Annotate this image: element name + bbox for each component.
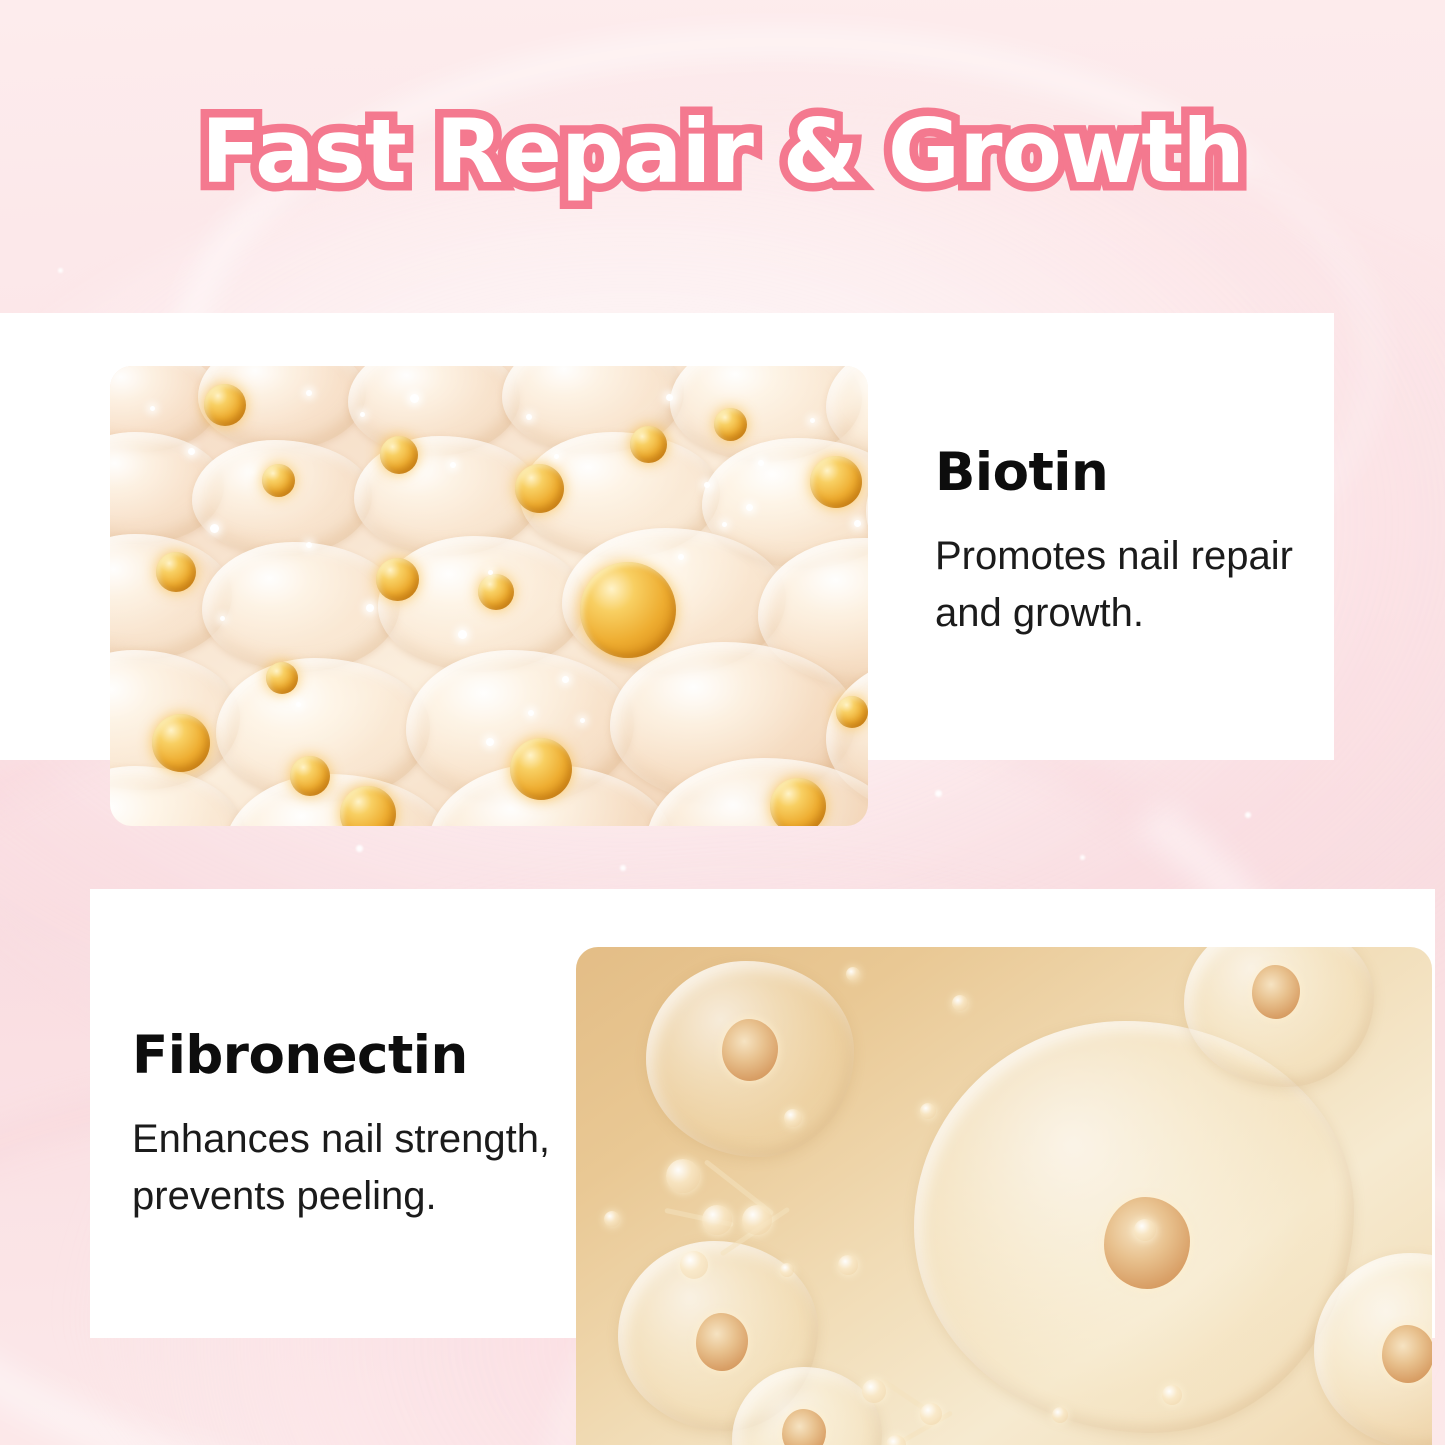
translucent-serum-cells-image: [576, 947, 1432, 1445]
golden-droplet: [262, 464, 295, 497]
golden-droplet: [290, 756, 330, 796]
page-title: Fast Repair & Growth: [201, 106, 1244, 198]
fibronectin-title: Fibronectin: [132, 1026, 572, 1085]
golden-droplet: [478, 574, 514, 610]
golden-droplet: [204, 384, 246, 426]
biotin-description: Promotes nail repair and growth.: [935, 528, 1335, 642]
golden-droplet: [152, 714, 210, 772]
golden-droplet: [510, 738, 572, 800]
golden-droplet: [580, 562, 676, 658]
headline-container: Fast Repair & Growth: [0, 106, 1445, 198]
golden-droplet: [714, 408, 747, 441]
golden-droplet: [770, 778, 826, 826]
honeycomb-cells-golden-droplets-image: [110, 366, 868, 826]
golden-droplet: [156, 552, 196, 592]
fibronectin-description: Enhances nail strength, prevents peeling…: [132, 1111, 572, 1225]
golden-droplet: [630, 426, 667, 463]
golden-droplet: [380, 436, 418, 474]
fibronectin-text-block: Fibronectin Enhances nail strength, prev…: [132, 1026, 572, 1225]
infographic-page: Fast Repair & Growth: [0, 0, 1445, 1445]
golden-droplet: [266, 662, 298, 694]
golden-droplet: [836, 696, 868, 728]
golden-droplet: [515, 464, 564, 513]
biotin-title: Biotin: [935, 443, 1335, 502]
golden-droplet: [810, 456, 862, 508]
biotin-text-block: Biotin Promotes nail repair and growth.: [935, 443, 1335, 642]
golden-droplet: [376, 558, 419, 601]
